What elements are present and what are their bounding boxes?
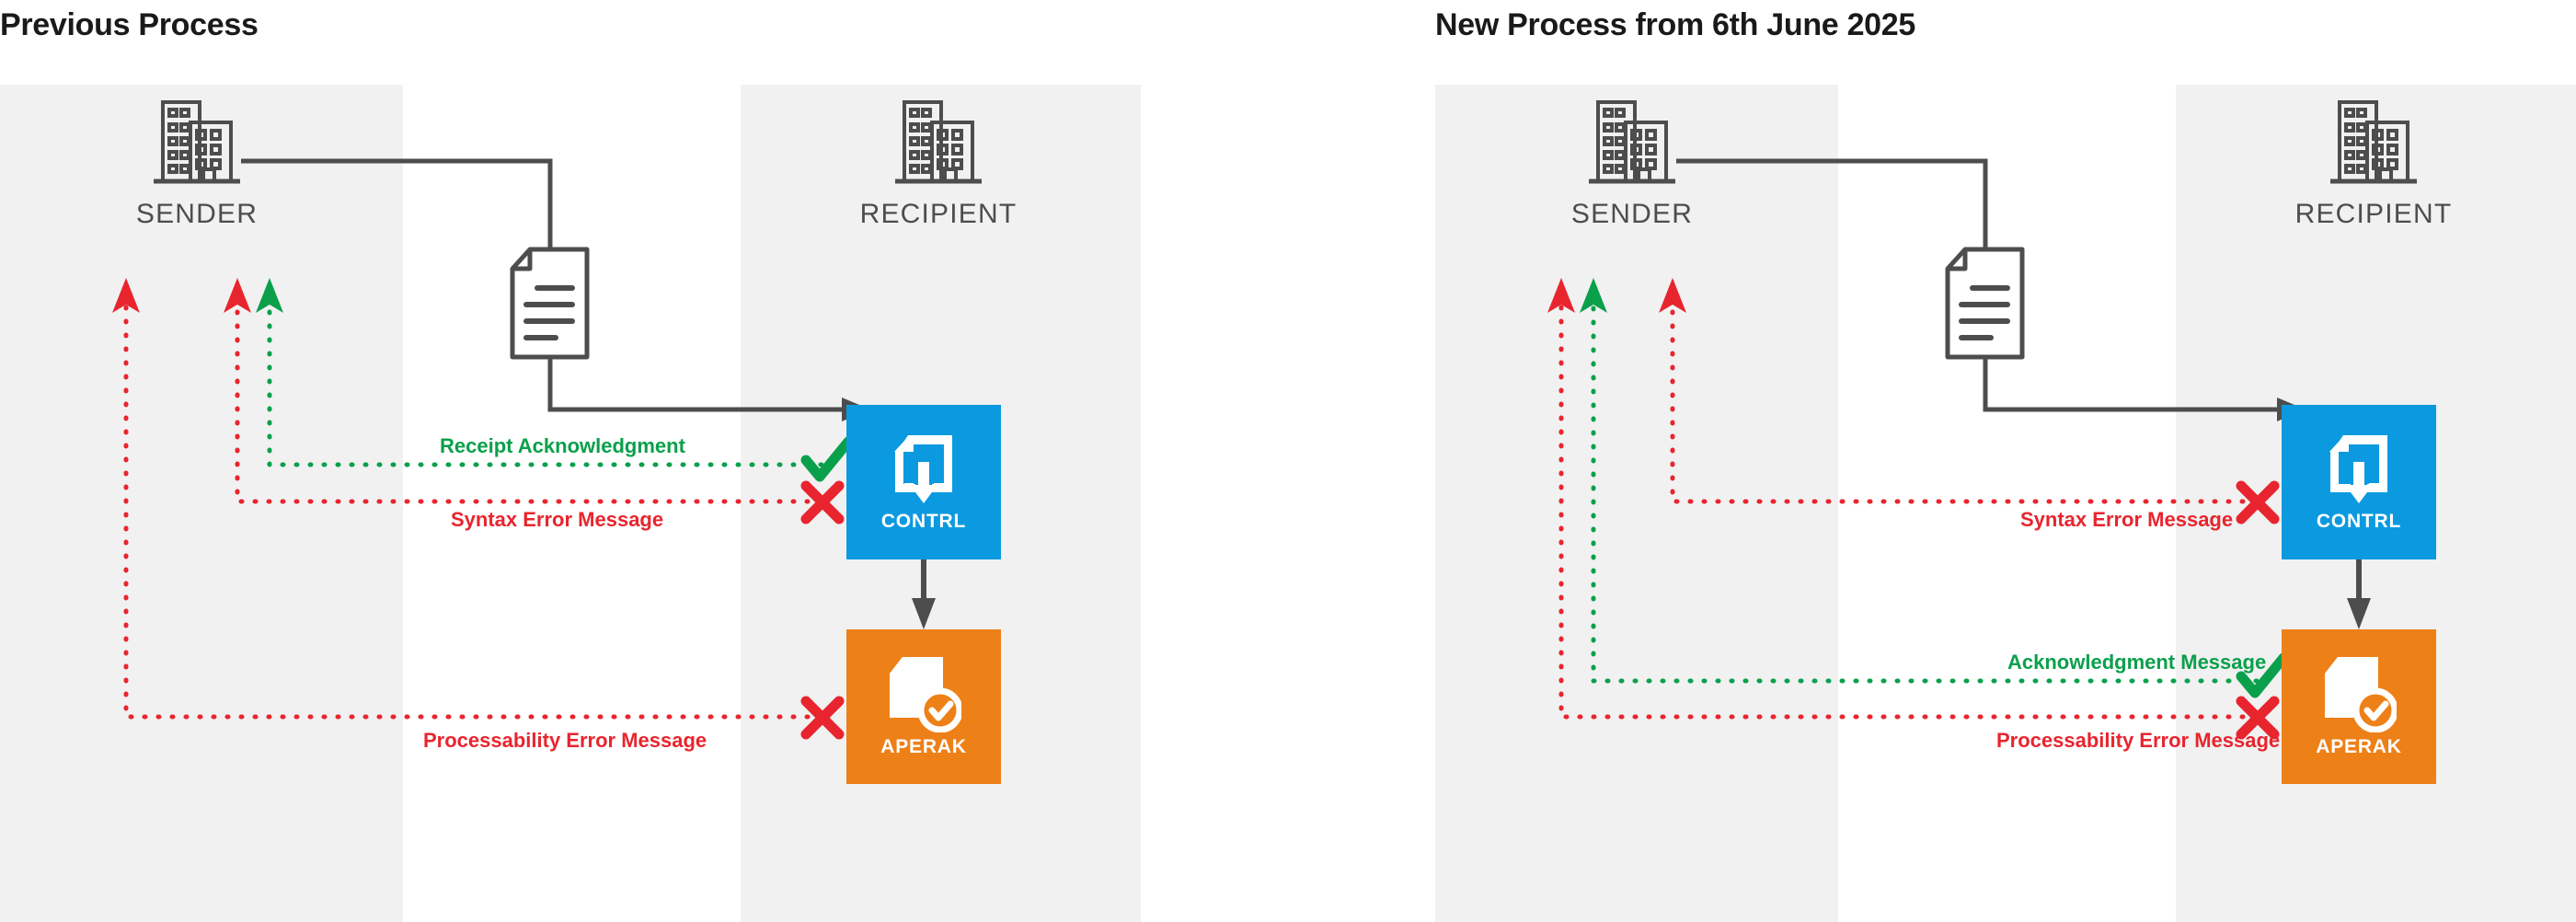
office-building-icon <box>1582 94 1682 193</box>
label-acknowledgment: Acknowledgment Message <box>2007 651 2266 674</box>
entity-sender: SENDER <box>1549 94 1715 230</box>
aperak-label: APERAK <box>2316 736 2401 758</box>
document-download-icon <box>890 432 958 507</box>
message-box-aperak[interactable]: APERAK <box>846 629 1001 784</box>
message-box-aperak[interactable]: APERAK <box>2282 629 2436 784</box>
contrl-label: CONTRL <box>2317 511 2401 533</box>
document-download-icon <box>2325 432 2393 507</box>
panel-title-new: New Process from 6th June 2025 <box>1435 7 1915 43</box>
recipient-label: RECIPIENT <box>856 199 1021 230</box>
label-processability-error: Processability Error Message <box>1996 729 2280 753</box>
office-building-icon <box>2324 94 2423 193</box>
panel-title-previous: Previous Process <box>0 7 259 43</box>
document-approved-icon <box>2321 655 2397 732</box>
document-approved-icon <box>886 655 961 732</box>
entity-recipient: RECIPIENT <box>2291 94 2456 230</box>
sender-label: SENDER <box>114 199 280 230</box>
office-building-icon <box>889 94 988 193</box>
message-box-contrl[interactable]: CONTRL <box>846 405 1001 559</box>
panel-new-process: New Process from 6th June 2025 <box>1435 0 2576 922</box>
document-icon <box>1943 247 2028 361</box>
document-icon <box>508 247 592 361</box>
office-building-icon <box>147 94 247 193</box>
label-processability-error: Processability Error Message <box>423 729 707 753</box>
diagram-page: Previous Process <box>0 0 2576 922</box>
entity-sender: SENDER <box>114 94 280 230</box>
label-receipt-acknowledgment: Receipt Acknowledgment <box>440 434 685 458</box>
label-syntax-error: Syntax Error Message <box>451 508 663 532</box>
entity-recipient: RECIPIENT <box>856 94 1021 230</box>
panel-previous-process: Previous Process <box>0 0 1141 922</box>
recipient-label: RECIPIENT <box>2291 199 2456 230</box>
label-syntax-error: Syntax Error Message <box>2020 508 2233 532</box>
aperak-label: APERAK <box>880 736 966 758</box>
contrl-label: CONTRL <box>881 511 966 533</box>
sender-label: SENDER <box>1549 199 1715 230</box>
message-box-contrl[interactable]: CONTRL <box>2282 405 2436 559</box>
